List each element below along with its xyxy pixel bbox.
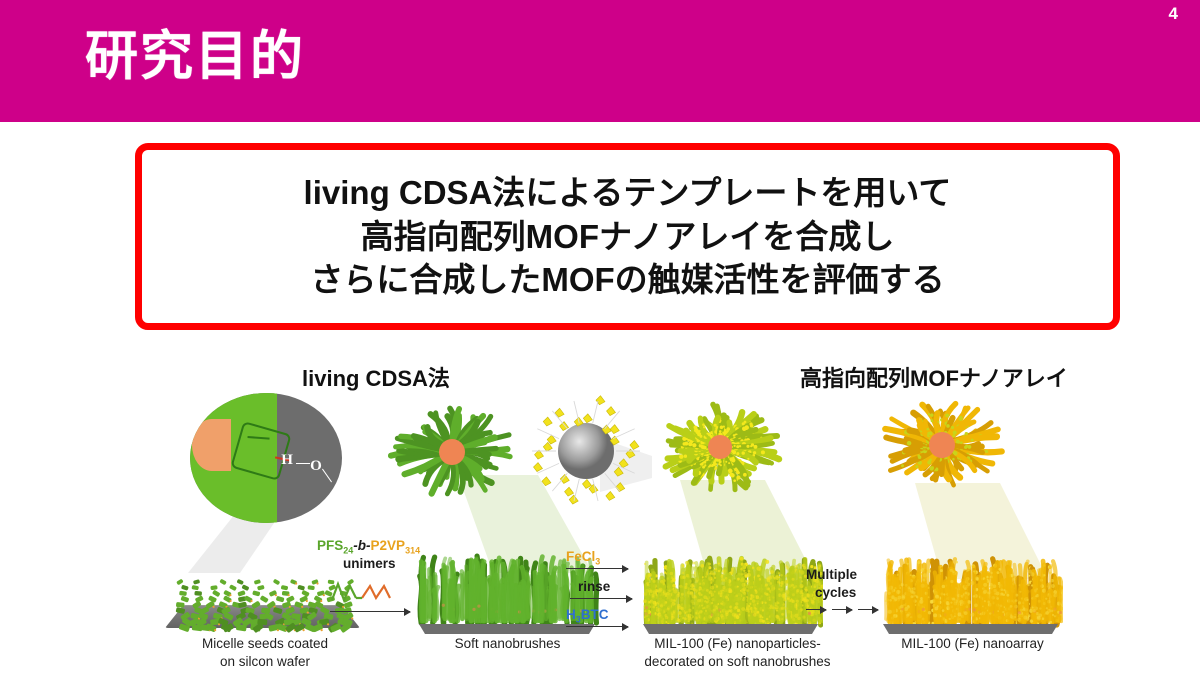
label-unimers-formula: PFS24-b-P2VP314 (317, 538, 420, 556)
decorated-brush-sphere (640, 385, 808, 510)
arrow-cycles-2 (832, 609, 852, 610)
arrow-unimer-assembly (330, 611, 410, 612)
arrow-fecl3 (566, 568, 628, 569)
inset-circle: H O (190, 393, 342, 523)
slide-number: 4 (1169, 4, 1178, 24)
arrow-cycles-3 (858, 609, 878, 610)
caption-mof-nanoarray: MIL-100 (Fe) nanoarray (855, 635, 1090, 653)
label-h3btc: H3BTC (566, 607, 609, 625)
label-fecl3: FeCl3 (566, 549, 600, 567)
synthesis-scheme-figure: living CDSA法 高指向配列MOFナノアレイ H (0, 335, 1200, 675)
caption-mof-decorated: MIL-100 (Fe) nanoparticles- decorated on… (605, 635, 870, 670)
bond-o-tail (322, 469, 332, 483)
polymer-chain-icon (330, 578, 402, 606)
magnified-mof-nanoparticle (522, 393, 652, 508)
label-rinse: rinse (578, 579, 610, 594)
slide-header: 4 研究目的 (0, 0, 1200, 122)
label-h3btc-rest: BTC (581, 607, 609, 622)
inset-orange-core (192, 419, 232, 471)
mof-nanoparticle-sphere (522, 393, 652, 508)
label-p2vp: P2VP (371, 538, 406, 553)
panel-mof-decorated-brushes (638, 525, 823, 635)
page-title: 研究目的 (85, 30, 305, 83)
label-pfs: PFS (317, 538, 343, 553)
label-fecl3-subscript: 3 (595, 557, 600, 567)
figure-label-living-cdsa: living CDSA法 (302, 361, 450, 393)
panel-mof-nanoarray (878, 525, 1063, 635)
yellow-brush-sphere (860, 383, 1030, 513)
objective-callout-box: living CDSA法によるテンプレートを用いて 高指向配列MOFナノアレイを… (135, 143, 1120, 330)
label-block-b: -b- (353, 538, 370, 553)
label-fecl3-text: FeCl (566, 549, 595, 564)
callout-line-1: living CDSA法によるテンプレートを用いて (304, 171, 952, 215)
soft-brush-sphere (380, 390, 545, 505)
label-pfs-subscript: 24 (343, 546, 353, 556)
callout-line-3: さらに合成したMOFの触媒活性を評価する (310, 258, 944, 302)
mof-decorated-layer (638, 525, 823, 635)
magnified-mof-nanoarray-unit (860, 383, 1030, 513)
callout-line-2: 高指向配列MOFナノアレイを合成し (361, 215, 895, 259)
arrow-h3btc (566, 626, 628, 627)
label-h3btc-h: H (566, 607, 576, 622)
atom-label-hydrogen: H (281, 452, 293, 469)
caption-micelle-seeds: Micelle seeds coated on silcon wafer (150, 635, 380, 670)
label-unimers: unimers (343, 556, 396, 571)
label-cycles: cycles (815, 585, 856, 600)
label-p2vp-subscript: 314 (405, 546, 420, 556)
atom-label-oxygen: O (310, 458, 322, 475)
caption-soft-nanobrushes: Soft nanobrushes (400, 635, 615, 653)
label-multiple: Multiple (806, 567, 857, 582)
bond-h-o (296, 463, 310, 464)
magnified-soft-nanobrush (380, 390, 545, 505)
slide: 4 研究目的 living CDSA法によるテンプレートを用いて 高指向配列MO… (0, 0, 1200, 675)
nanoarray-layer (878, 525, 1063, 635)
arrow-cycles-1 (806, 609, 826, 610)
magnified-decorated-nanobrush (640, 385, 808, 510)
arrow-rinse (570, 598, 632, 599)
micelle-chemistry-inset: H O (190, 393, 342, 523)
